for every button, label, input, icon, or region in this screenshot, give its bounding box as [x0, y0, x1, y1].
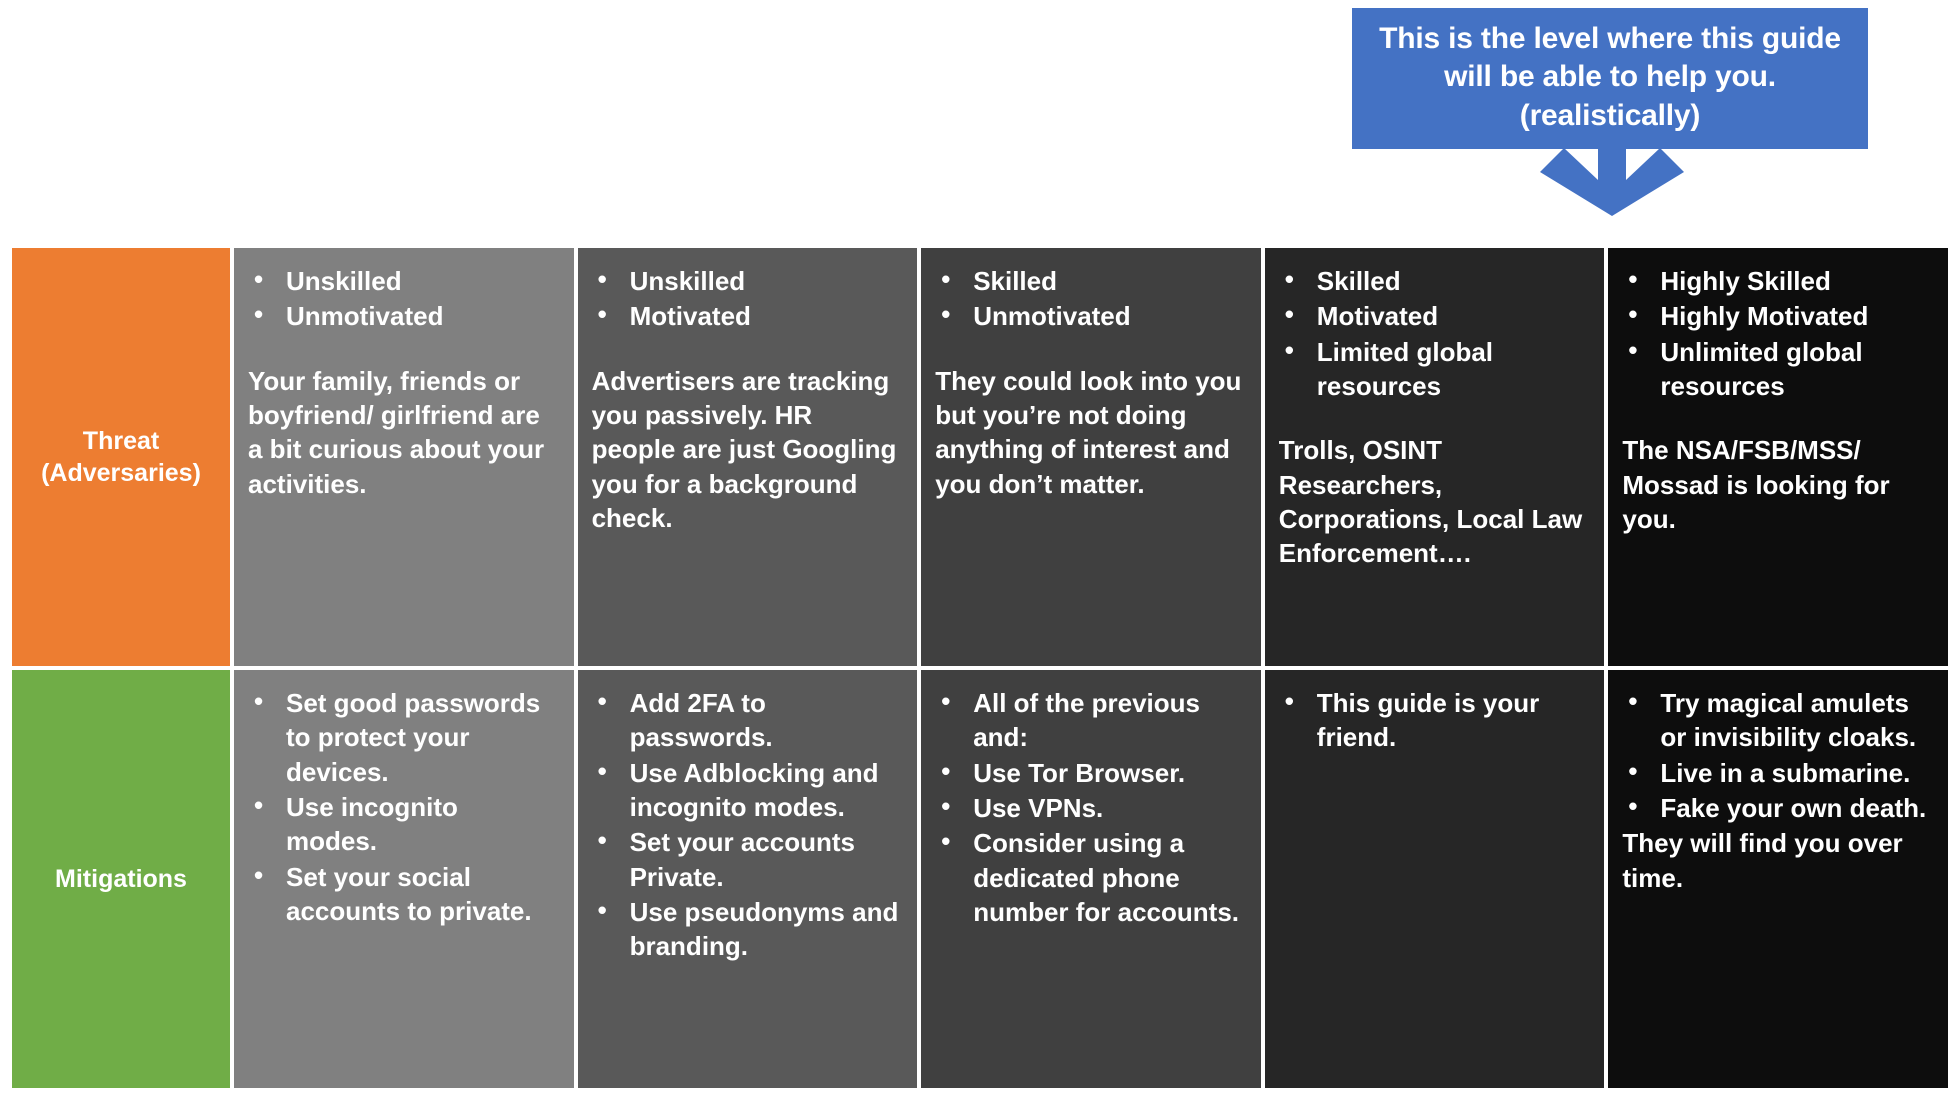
- threat-bullets-level-4: Skilled Motivated Limited global resourc…: [1275, 264, 1587, 403]
- row-label-threat-line-2: (Adversaries): [41, 457, 201, 490]
- threat-cell-level-1: Unskilled Unmotivated Your family, frien…: [232, 246, 576, 668]
- threat-paragraph-level-5: The NSA/FSB/MSS/ Mossad is looking for y…: [1618, 433, 1930, 536]
- threat-bullets-level-1: Unskilled Unmotivated: [244, 264, 556, 334]
- mitigations-bullets-level-5: Try magical amulets or invisibility cloa…: [1618, 686, 1930, 825]
- list-item: Live in a submarine.: [1656, 756, 1930, 790]
- list-item: Unlimited global resources: [1656, 335, 1930, 404]
- mitigations-cell-level-1: Set good passwords to protect your devic…: [232, 668, 576, 1090]
- mitigations-bullets-level-4: This guide is your friend.: [1275, 686, 1587, 755]
- list-item: Motivated: [1313, 299, 1587, 333]
- list-item: Skilled: [1313, 264, 1587, 298]
- list-item: Unmotivated: [969, 299, 1243, 333]
- threat-cell-level-2: Unskilled Motivated Advertisers are trac…: [576, 246, 920, 668]
- threat-cell-level-4: Skilled Motivated Limited global resourc…: [1263, 246, 1607, 668]
- threat-model-matrix: Threat (Adversaries) Unskilled Unmotivat…: [10, 246, 1950, 1090]
- list-item: Highly Motivated: [1656, 299, 1930, 333]
- list-item: Use Adblocking and incognito modes.: [626, 756, 900, 825]
- list-item: Skilled: [969, 264, 1243, 298]
- list-item: Fake your own death.: [1656, 791, 1930, 825]
- callout-line-1: This is the level where this guide: [1362, 20, 1858, 58]
- list-item: This guide is your friend.: [1313, 686, 1587, 755]
- list-item: Use incognito modes.: [282, 790, 556, 859]
- callout-line-2: will be able to help you.: [1362, 58, 1858, 96]
- list-item: Use VPNs.: [969, 791, 1243, 825]
- threat-cell-level-5: Highly Skilled Highly Motivated Unlimite…: [1606, 246, 1950, 668]
- mitigations-bullets-level-2: Add 2FA to passwords. Use Adblocking and…: [588, 686, 900, 964]
- mitigations-cell-level-3: All of the previous and: Use Tor Browser…: [919, 668, 1263, 1090]
- threat-bullets-level-3: Skilled Unmotivated: [931, 264, 1243, 334]
- list-item: Unskilled: [282, 264, 556, 298]
- row-label-threat-line-1: Threat: [41, 425, 201, 458]
- list-item: Try magical amulets or invisibility cloa…: [1656, 686, 1930, 755]
- row-label-mitigations-line-1: Mitigations: [55, 863, 187, 896]
- mitigations-bullets-level-1: Set good passwords to protect your devic…: [244, 686, 556, 928]
- list-item: Unskilled: [626, 264, 900, 298]
- list-item: Set your social accounts to private.: [282, 860, 556, 929]
- mitigations-cell-level-2: Add 2FA to passwords. Use Adblocking and…: [576, 668, 920, 1090]
- mitigations-paragraph-level-5: They will find you over time.: [1618, 826, 1930, 895]
- list-item: All of the previous and:: [969, 686, 1243, 755]
- threat-paragraph-level-4: Trolls, OSINT Researchers, Corporations,…: [1275, 433, 1587, 570]
- list-item: Set good passwords to protect your devic…: [282, 686, 556, 789]
- callout-line-3: (realistically): [1362, 97, 1858, 135]
- mitigations-bullets-level-3: All of the previous and: Use Tor Browser…: [931, 686, 1243, 929]
- list-item: Consider using a dedicated phone number …: [969, 826, 1243, 929]
- down-arrow-icon: [1532, 134, 1692, 216]
- mitigations-cell-level-5: Try magical amulets or invisibility cloa…: [1606, 668, 1950, 1090]
- threat-cell-level-3: Skilled Unmotivated They could look into…: [919, 246, 1263, 668]
- list-item: Use pseudonyms and branding.: [626, 895, 900, 964]
- list-item: Unmotivated: [282, 299, 556, 333]
- threat-paragraph-level-1: Your family, friends or boyfriend/ girlf…: [244, 364, 556, 501]
- list-item: Limited global resources: [1313, 335, 1587, 404]
- threat-bullets-level-5: Highly Skilled Highly Motivated Unlimite…: [1618, 264, 1930, 403]
- callout-annotation: This is the level where this guide will …: [1352, 8, 1868, 149]
- list-item: Set your accounts Private.: [626, 825, 900, 894]
- list-item: Motivated: [626, 299, 900, 333]
- threat-paragraph-level-2: Advertisers are tracking you passively. …: [588, 364, 900, 536]
- list-item: Add 2FA to passwords.: [626, 686, 900, 755]
- mitigations-cell-level-4: This guide is your friend.: [1263, 668, 1607, 1090]
- callout-box: This is the level where this guide will …: [1352, 8, 1868, 149]
- list-item: Use Tor Browser.: [969, 756, 1243, 790]
- list-item: Highly Skilled: [1656, 264, 1930, 298]
- row-label-threat: Threat (Adversaries): [10, 246, 232, 668]
- threat-bullets-level-2: Unskilled Motivated: [588, 264, 900, 334]
- row-label-mitigations: Mitigations: [10, 668, 232, 1090]
- threat-paragraph-level-3: They could look into you but you’re not …: [931, 364, 1243, 501]
